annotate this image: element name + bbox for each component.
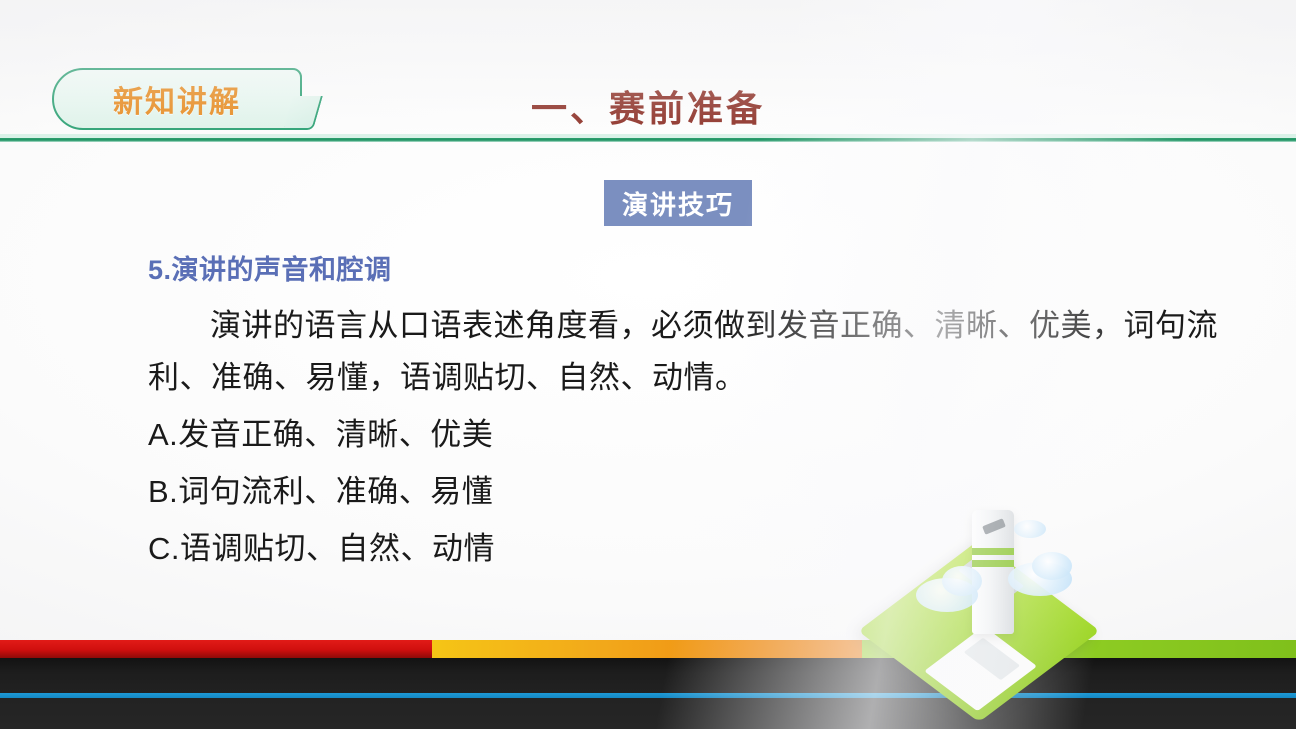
floppy-disk-illustration bbox=[886, 496, 1116, 704]
floppy-label-icon bbox=[924, 626, 1037, 711]
cloud-icon-left-top bbox=[942, 566, 982, 596]
cloud-icon-right-top bbox=[1032, 552, 1072, 580]
page-title: 一、赛前准备 bbox=[0, 80, 1296, 132]
option-item-a: A.发音正确、清晰、优美 bbox=[148, 406, 1218, 463]
body-paragraph: 演讲的语言从口语表述角度看，必须做到发音正确、清晰、优美，词句流利、准确、易懂，… bbox=[148, 300, 1218, 404]
header-divider bbox=[0, 138, 1296, 142]
footer-stripe-red bbox=[0, 640, 432, 658]
topic-badge-label: 演讲技巧 bbox=[622, 185, 734, 222]
subsection-heading: 5.演讲的声音和腔调 bbox=[148, 248, 392, 287]
chimney-ring-upper-icon bbox=[972, 548, 1014, 555]
cloud-icon-small bbox=[1014, 520, 1046, 538]
topic-badge: 演讲技巧 bbox=[604, 180, 752, 226]
footer-stripe-orange bbox=[432, 640, 862, 658]
slide-canvas: 新知讲解 一、赛前准备 演讲技巧 5.演讲的声音和腔调 演讲的语言从口语表述角度… bbox=[0, 0, 1296, 729]
chimney-ring-lower-icon bbox=[972, 560, 1014, 567]
